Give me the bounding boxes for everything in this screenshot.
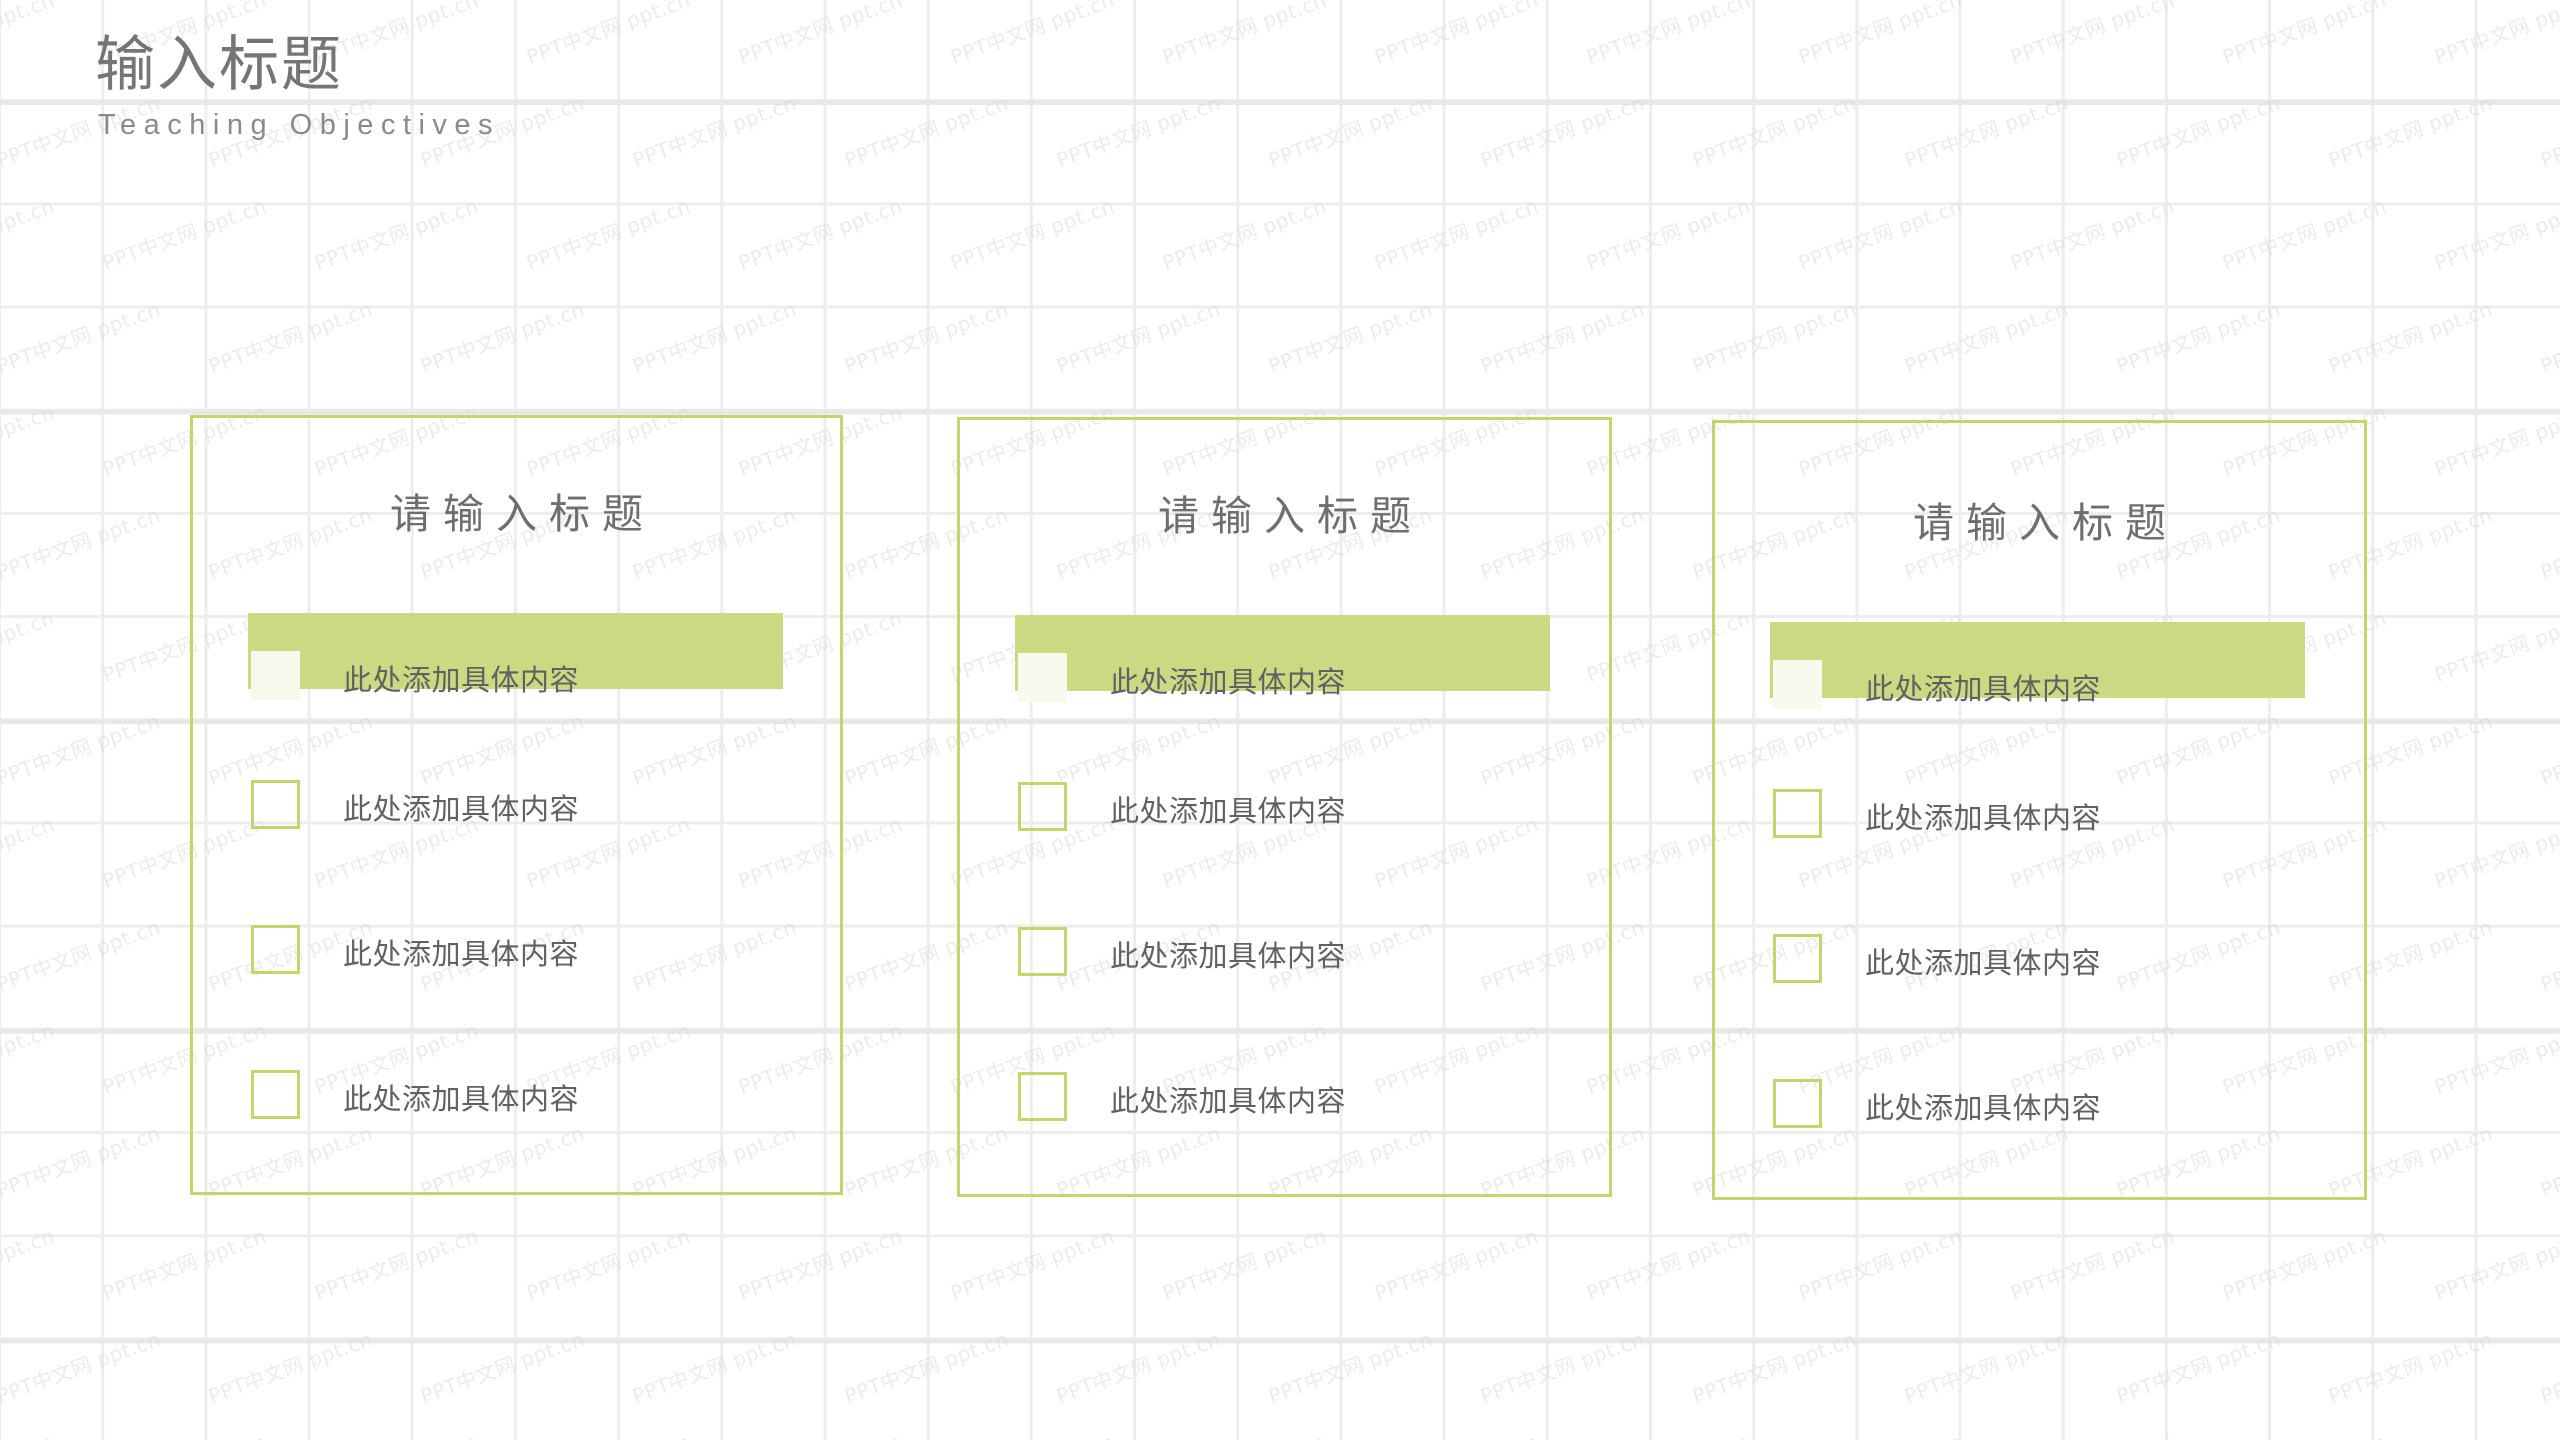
objective-card-2[interactable]: 请输入标题 此处添加具体内容 此处添加具体内容 此处添加具体内容 此处添加具体内… (957, 417, 1612, 1197)
watermark-text: PPT中文网 ppt.cn (2430, 396, 2560, 482)
watermark-text: PPT中文网 ppt.cn (2218, 190, 2390, 276)
list-item[interactable]: 此处添加具体内容 (193, 884, 840, 1029)
card-title: 请输入标题 (1715, 489, 2364, 549)
list-item-label: 此处添加具体内容 (1110, 659, 1346, 701)
watermark-text: PPT中文网 ppt.cn (2218, 0, 2390, 70)
watermark-text: PPT中文网 ppt.cn (204, 1323, 376, 1409)
list-item[interactable]: 此处添加具体内容 (960, 1031, 1609, 1176)
watermark-text: PPT中文网 ppt.cn (2218, 1220, 2390, 1306)
watermark-text: PPT中文网 ppt.cn (2430, 602, 2560, 688)
watermark-text: PPT中文网 ppt.cn (1052, 1323, 1224, 1409)
watermark-text: PPT中文网 ppt.cn (98, 190, 270, 276)
watermark-text: PPT中文网 ppt.cn (2324, 87, 2496, 173)
objective-list: 此处添加具体内容 此处添加具体内容 此处添加具体内容 此处添加具体内容 (960, 596, 1609, 1176)
watermark-text: PPT中文网 ppt.cn (2112, 1323, 2284, 1409)
list-item-label: 此处添加具体内容 (343, 931, 579, 973)
watermark-text: PPT中文网 ppt.cn (204, 293, 376, 379)
watermark-text: PPT中文网 ppt.cn (416, 293, 588, 379)
checkbox-icon[interactable] (251, 1070, 300, 1119)
watermark-text: PPT中文网 ppt.cn (734, 1220, 906, 1306)
list-item-label: 此处添加具体内容 (1865, 666, 2101, 708)
watermark-text: PPT中文网 ppt.cn (1158, 1220, 1330, 1306)
watermark-text: PPT中文网 ppt.cn (1370, 190, 1542, 276)
watermark-text: PPT中文网 ppt.cn (98, 1426, 270, 1440)
watermark-text: PPT中文网 ppt.cn (2006, 190, 2178, 276)
list-item[interactable]: 此处添加具体内容 (1715, 893, 2364, 1038)
watermark-text: PPT中文网 ppt.cn (1794, 0, 1966, 70)
watermark-text: PPT中文网 ppt.cn (1158, 0, 1330, 70)
watermark-text: PPT中文网 ppt.cn (1688, 1323, 1860, 1409)
checkbox-icon[interactable] (1773, 660, 1822, 709)
list-item[interactable]: 此处添加具体内容 (1715, 1038, 2364, 1183)
list-item-label: 此处添加具体内容 (1110, 933, 1346, 975)
watermark-text: PPT中文网 ppt.cn (1370, 0, 1542, 70)
watermark-text: PPT中文网 ppt.cn (1264, 1323, 1436, 1409)
watermark-text: PPT中文网 ppt.cn (0, 602, 58, 688)
list-item[interactable]: 此处添加具体内容 (1715, 603, 2364, 748)
watermark-text: PPT中文网 ppt.cn (2430, 1426, 2560, 1440)
checkbox-icon[interactable] (1018, 653, 1067, 702)
watermark-text: PPT中文网 ppt.cn (1688, 293, 1860, 379)
list-item-label: 此处添加具体内容 (343, 1076, 579, 1118)
watermark-text: PPT中文网 ppt.cn (1370, 1426, 1542, 1440)
watermark-text: PPT中文网 ppt.cn (522, 190, 694, 276)
watermark-text: PPT中文网 ppt.cn (2112, 293, 2284, 379)
watermark-text: PPT中文网 ppt.cn (2430, 808, 2560, 894)
watermark-text: PPT中文网 ppt.cn (0, 1426, 58, 1440)
card-title: 请输入标题 (193, 480, 840, 540)
slide-canvas: PPT中文网 ppt.cnPPT中文网 ppt.cnPPT中文网 ppt.cnP… (0, 0, 2560, 1440)
watermark-text: PPT中文网 ppt.cn (0, 499, 164, 585)
watermark-text: PPT中文网 ppt.cn (0, 1014, 58, 1100)
list-item[interactable]: 此处添加具体内容 (1715, 748, 2364, 893)
watermark-text: PPT中文网 ppt.cn (1900, 1323, 2072, 1409)
watermark-text: PPT中文网 ppt.cn (2536, 87, 2560, 173)
watermark-text: PPT中文网 ppt.cn (2430, 1014, 2560, 1100)
watermark-text: PPT中文网 ppt.cn (628, 293, 800, 379)
list-item-label: 此处添加具体内容 (1110, 1078, 1346, 1120)
watermark-text: PPT中文网 ppt.cn (2430, 1220, 2560, 1306)
watermark-text: PPT中文网 ppt.cn (2006, 0, 2178, 70)
watermark-text: PPT中文网 ppt.cn (2430, 190, 2560, 276)
page-subtitle: Teaching Objectives (98, 109, 500, 142)
watermark-text: PPT中文网 ppt.cn (2536, 499, 2560, 585)
watermark-text: PPT中文网 ppt.cn (1264, 293, 1436, 379)
list-item[interactable]: 此处添加具体内容 (193, 739, 840, 884)
watermark-text: PPT中文网 ppt.cn (840, 1323, 1012, 1409)
objective-card-1[interactable]: 请输入标题 此处添加具体内容 此处添加具体内容 此处添加具体内容 此处添加具体内… (190, 415, 843, 1195)
list-item[interactable]: 此处添加具体内容 (960, 741, 1609, 886)
checkbox-icon[interactable] (1018, 1072, 1067, 1121)
watermark-text: PPT中文网 ppt.cn (1476, 293, 1648, 379)
watermark-text: PPT中文网 ppt.cn (1052, 293, 1224, 379)
watermark-text: PPT中文网 ppt.cn (1582, 0, 1754, 70)
watermark-text: PPT中文网 ppt.cn (1794, 1220, 1966, 1306)
card-title: 请输入标题 (960, 482, 1609, 542)
watermark-text: PPT中文网 ppt.cn (1158, 190, 1330, 276)
list-item-label: 此处添加具体内容 (343, 657, 579, 699)
watermark-text: PPT中文网 ppt.cn (1158, 1426, 1330, 1440)
watermark-text: PPT中文网 ppt.cn (1900, 87, 2072, 173)
watermark-text: PPT中文网 ppt.cn (0, 0, 58, 70)
watermark-text: PPT中文网 ppt.cn (1794, 1426, 1966, 1440)
watermark-text: PPT中文网 ppt.cn (0, 808, 58, 894)
checkbox-icon[interactable] (1018, 927, 1067, 976)
watermark-text: PPT中文网 ppt.cn (2536, 705, 2560, 791)
checkbox-icon[interactable] (1018, 782, 1067, 831)
watermark-text: PPT中文网 ppt.cn (946, 190, 1118, 276)
watermark-text: PPT中文网 ppt.cn (1794, 190, 1966, 276)
watermark-text: PPT中文网 ppt.cn (0, 293, 164, 379)
list-item[interactable]: 此处添加具体内容 (960, 596, 1609, 741)
watermark-text: PPT中文网 ppt.cn (1582, 1426, 1754, 1440)
watermark-text: PPT中文网 ppt.cn (310, 190, 482, 276)
watermark-text: PPT中文网 ppt.cn (1582, 1220, 1754, 1306)
list-item[interactable]: 此处添加具体内容 (193, 1029, 840, 1174)
list-item-label: 此处添加具体内容 (1865, 940, 2101, 982)
watermark-text: PPT中文网 ppt.cn (0, 705, 164, 791)
watermark-text: PPT中文网 ppt.cn (1582, 190, 1754, 276)
watermark-text: PPT中文网 ppt.cn (1900, 293, 2072, 379)
watermark-text: PPT中文网 ppt.cn (946, 1426, 1118, 1440)
checkbox-icon[interactable] (251, 925, 300, 974)
watermark-text: PPT中文网 ppt.cn (734, 190, 906, 276)
objective-list: 此处添加具体内容 此处添加具体内容 此处添加具体内容 此处添加具体内容 (193, 594, 840, 1174)
watermark-text: PPT中文网 ppt.cn (2324, 293, 2496, 379)
watermark-text: PPT中文网 ppt.cn (0, 911, 164, 997)
watermark-text: PPT中文网 ppt.cn (0, 396, 58, 482)
watermark-text: PPT中文网 ppt.cn (628, 1323, 800, 1409)
objective-list: 此处添加具体内容 此处添加具体内容 此处添加具体内容 此处添加具体内容 (1715, 603, 2364, 1183)
watermark-text: PPT中文网 ppt.cn (310, 1220, 482, 1306)
watermark-text: PPT中文网 ppt.cn (734, 0, 906, 70)
watermark-text: PPT中文网 ppt.cn (2536, 1323, 2560, 1409)
watermark-text: PPT中文网 ppt.cn (1476, 87, 1648, 173)
watermark-text: PPT中文网 ppt.cn (522, 1220, 694, 1306)
watermark-text: PPT中文网 ppt.cn (946, 1220, 1118, 1306)
watermark-text: PPT中文网 ppt.cn (1370, 1220, 1542, 1306)
watermark-text: PPT中文网 ppt.cn (0, 1117, 164, 1203)
list-item-label: 此处添加具体内容 (1110, 788, 1346, 830)
watermark-text: PPT中文网 ppt.cn (2536, 1117, 2560, 1203)
watermark-text: PPT中文网 ppt.cn (2536, 911, 2560, 997)
page-title: 输入标题 (95, 30, 500, 101)
watermark-text: PPT中文网 ppt.cn (734, 1426, 906, 1440)
list-item-label: 此处添加具体内容 (1865, 795, 2101, 837)
list-item-label: 此处添加具体内容 (1865, 1085, 2101, 1127)
list-item-label: 此处添加具体内容 (343, 786, 579, 828)
watermark-text: PPT中文网 ppt.cn (1688, 87, 1860, 173)
watermark-text: PPT中文网 ppt.cn (840, 87, 1012, 173)
watermark-text: PPT中文网 ppt.cn (2112, 87, 2284, 173)
watermark-text: PPT中文网 ppt.cn (522, 0, 694, 70)
watermark-text: PPT中文网 ppt.cn (416, 1323, 588, 1409)
watermark-text: PPT中文网 ppt.cn (628, 87, 800, 173)
watermark-text: PPT中文网 ppt.cn (2324, 1323, 2496, 1409)
watermark-text: PPT中文网 ppt.cn (2006, 1220, 2178, 1306)
watermark-text: PPT中文网 ppt.cn (840, 293, 1012, 379)
watermark-text: PPT中文网 ppt.cn (522, 1426, 694, 1440)
watermark-text: PPT中文网 ppt.cn (2430, 0, 2560, 70)
watermark-text: PPT中文网 ppt.cn (2006, 1426, 2178, 1440)
watermark-text: PPT中文网 ppt.cn (0, 190, 58, 276)
watermark-text: PPT中文网 ppt.cn (310, 1426, 482, 1440)
watermark-text: PPT中文网 ppt.cn (1264, 87, 1436, 173)
watermark-text: PPT中文网 ppt.cn (1052, 87, 1224, 173)
slide-header: 输入标题 Teaching Objectives (95, 30, 500, 142)
list-item[interactable]: 此处添加具体内容 (193, 594, 840, 739)
checkbox-icon[interactable] (1773, 934, 1822, 983)
checkbox-icon[interactable] (251, 780, 300, 829)
checkbox-icon[interactable] (251, 651, 300, 700)
watermark-text: PPT中文网 ppt.cn (0, 1220, 58, 1306)
watermark-text: PPT中文网 ppt.cn (1476, 1323, 1648, 1409)
list-item[interactable]: 此处添加具体内容 (960, 886, 1609, 1031)
watermark-text: PPT中文网 ppt.cn (98, 1220, 270, 1306)
objective-card-3[interactable]: 请输入标题 此处添加具体内容 此处添加具体内容 此处添加具体内容 此处添加具体内… (1712, 420, 2367, 1200)
watermark-text: PPT中文网 ppt.cn (0, 1323, 164, 1409)
checkbox-icon[interactable] (1773, 789, 1822, 838)
watermark-text: PPT中文网 ppt.cn (2536, 293, 2560, 379)
checkbox-icon[interactable] (1773, 1079, 1822, 1128)
watermark-text: PPT中文网 ppt.cn (2218, 1426, 2390, 1440)
watermark-text: PPT中文网 ppt.cn (946, 0, 1118, 70)
